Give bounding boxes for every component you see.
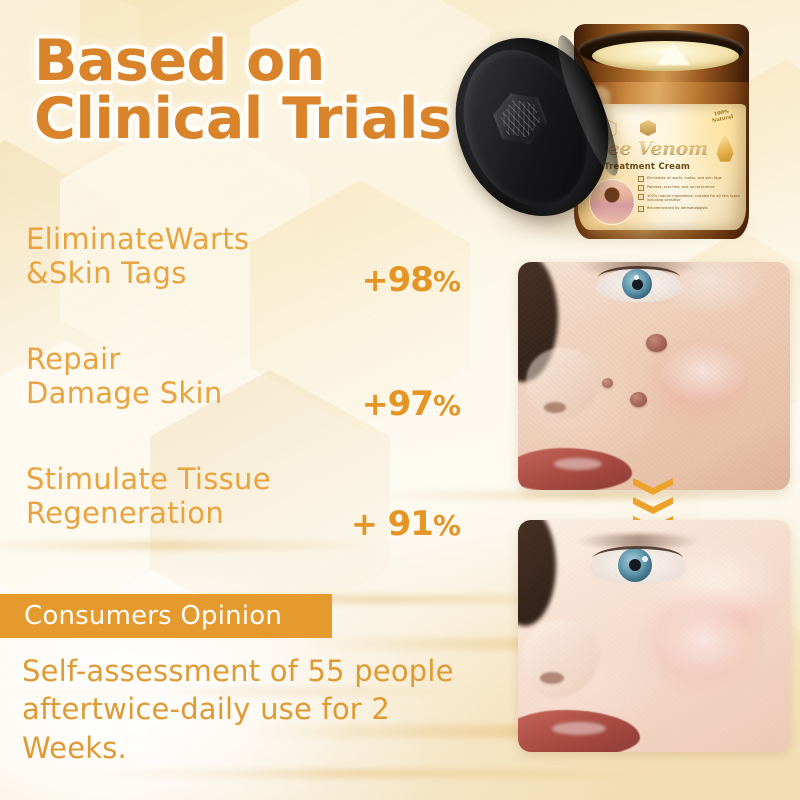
benefits-list: EliminateWarts &Skin Tags +98% Repair Da… [26, 222, 456, 558]
benefit-percent-sign: % [433, 389, 460, 422]
benefit-value: 98 [388, 260, 433, 300]
label-bullet-list: ✓ Eliminates all warts, moles, and skin … [638, 176, 742, 215]
check-icon: ✓ [638, 194, 644, 200]
skin-cross-section-illustration [590, 180, 634, 224]
benefit-percent-sign: % [433, 265, 460, 298]
label-bullet-item: ✓ 100% natural ingredients, suitable for… [638, 194, 742, 203]
consumers-opinion-label: Consumers Opinion [0, 601, 282, 631]
headline-line-2: Clinical Trials [34, 90, 504, 148]
benefit-value: 97 [388, 384, 433, 424]
label-emblem-icon [640, 120, 656, 136]
label-bullet-text: Eliminates all warts, moles, and skin ta… [647, 176, 722, 180]
consumers-opinion-banner: Consumers Opinion [0, 594, 332, 638]
benefit-label: EliminateWarts &Skin Tags [26, 222, 306, 290]
check-icon: ✓ [638, 176, 644, 182]
check-icon: ✓ [638, 206, 644, 212]
benefit-row: EliminateWarts &Skin Tags +98% [26, 222, 456, 334]
before-photo [518, 262, 790, 490]
benefit-label-line-1: Stimulate Tissue [26, 462, 306, 496]
product-jar: 100% Natural Bee Venom Treatment Cream ✓… [452, 8, 792, 258]
jar-rim [578, 30, 745, 70]
benefit-plus-sign: + [351, 505, 377, 543]
benefit-label: Stimulate Tissue Regeneration [26, 462, 306, 530]
cream-surface [592, 41, 739, 71]
benefit-plus-sign: + [362, 261, 388, 299]
benefit-label-line-2: &Skin Tags [26, 256, 306, 290]
headline: Based on Clinical Trials [34, 32, 504, 148]
skin-texture [518, 520, 790, 752]
benefit-label-line-1: Repair [26, 342, 306, 376]
headline-line-1: Based on [34, 28, 325, 94]
natural-badge: 100% Natural [706, 107, 740, 135]
benefit-percentage: +98% [362, 260, 460, 300]
benefit-label-line-2: Damage Skin [26, 376, 306, 410]
benefit-percentage: +97% [362, 384, 460, 424]
benefit-row: Stimulate Tissue Regeneration + 91% [26, 446, 456, 558]
label-bullet-item: ✓ Painless, scar-free, and no recurrence [638, 185, 742, 191]
benefit-percentage: + 91% [351, 504, 460, 544]
label-bullet-item: ✓ Eliminates all warts, moles, and skin … [638, 176, 742, 182]
chevron-down-icon [633, 478, 673, 495]
honey-drop-icon [714, 134, 736, 164]
label-bullet-text: Recommended by dermatologists [647, 206, 708, 210]
benefit-label-line-2: Regeneration [26, 496, 306, 530]
label-bullet-text: Painless, scar-free, and no recurrence [647, 185, 715, 189]
jar-neck [574, 24, 749, 82]
benefit-value: 91 [388, 504, 433, 544]
benefit-percent-sign: % [433, 509, 460, 542]
label-bullet-text: 100% natural ingredients, suitable for a… [647, 194, 742, 203]
cream-peak [656, 43, 690, 65]
product-promo-poster: Based on Clinical Trials EliminateWarts … [0, 0, 800, 800]
check-icon: ✓ [638, 185, 644, 191]
benefit-label: Repair Damage Skin [26, 342, 306, 410]
skin-texture [518, 262, 790, 490]
chevron-down-icon [633, 497, 673, 514]
label-bullet-item: ✓ Recommended by dermatologists [638, 206, 742, 212]
benefit-plus-sign: + [362, 385, 388, 423]
benefit-label-line-1: EliminateWarts [26, 222, 306, 256]
assessment-text: Self-assessment of 55 people aftertwice-… [22, 652, 462, 767]
benefit-row: Repair Damage Skin +97% [26, 334, 456, 446]
after-photo [518, 520, 790, 752]
